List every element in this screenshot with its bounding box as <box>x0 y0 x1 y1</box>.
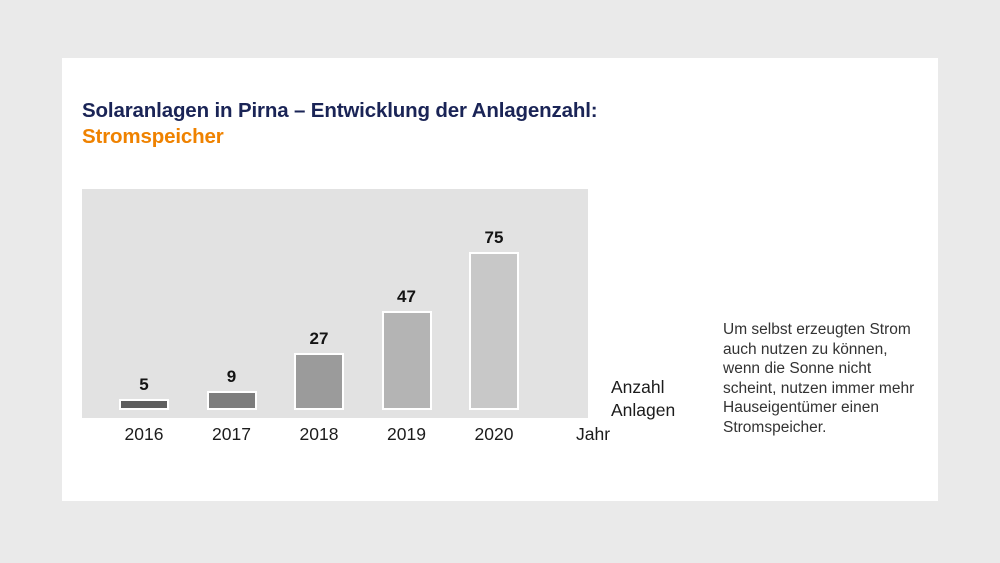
chart-plot-area: 59274775 <box>82 189 588 418</box>
x-tick-2020: 2020 <box>454 422 534 446</box>
bar-value-label-2019: 47 <box>367 288 447 306</box>
x-tick-2019: 2019 <box>367 422 447 446</box>
page-title: Solaranlagen in Pirna – Entwicklung der … <box>82 98 782 124</box>
bar-value-label-2017: 9 <box>192 368 272 386</box>
bar-2019 <box>382 311 432 410</box>
y-axis-title: Anzahl Anlagen <box>611 376 721 422</box>
bar-group: 75 <box>469 189 519 410</box>
bars-layer: 59274775 <box>82 189 588 418</box>
x-axis-labels: Jahr 20162017201820192020 <box>82 422 662 452</box>
bar-value-label-2020: 75 <box>454 229 534 247</box>
bar-value-label-2018: 27 <box>279 330 359 348</box>
x-axis-title: Jahr <box>576 422 656 446</box>
content-card: Solaranlagen in Pirna – Entwicklung der … <box>62 58 938 501</box>
x-tick-2018: 2018 <box>279 422 359 446</box>
bar-2017 <box>207 391 257 410</box>
chart-title-block: Solaranlagen in Pirna – Entwicklung der … <box>82 98 782 150</box>
x-tick-2017: 2017 <box>192 422 272 446</box>
y-axis-title-line2: Anlagen <box>611 399 721 422</box>
page-subtitle: Stromspeicher <box>82 124 782 150</box>
bar-value-label-2016: 5 <box>104 376 184 394</box>
bar-group: 9 <box>207 189 257 410</box>
bar-2018 <box>294 353 344 410</box>
side-note-text: Um selbst erzeugten Strom auch nutzen zu… <box>723 320 918 437</box>
y-axis-title-line1: Anzahl <box>611 376 721 399</box>
bar-group: 47 <box>382 189 432 410</box>
bar-2020 <box>469 252 519 410</box>
bar-2016 <box>119 399 169 410</box>
bar-group: 5 <box>119 189 169 410</box>
x-tick-2016: 2016 <box>104 422 184 446</box>
bar-group: 27 <box>294 189 344 410</box>
